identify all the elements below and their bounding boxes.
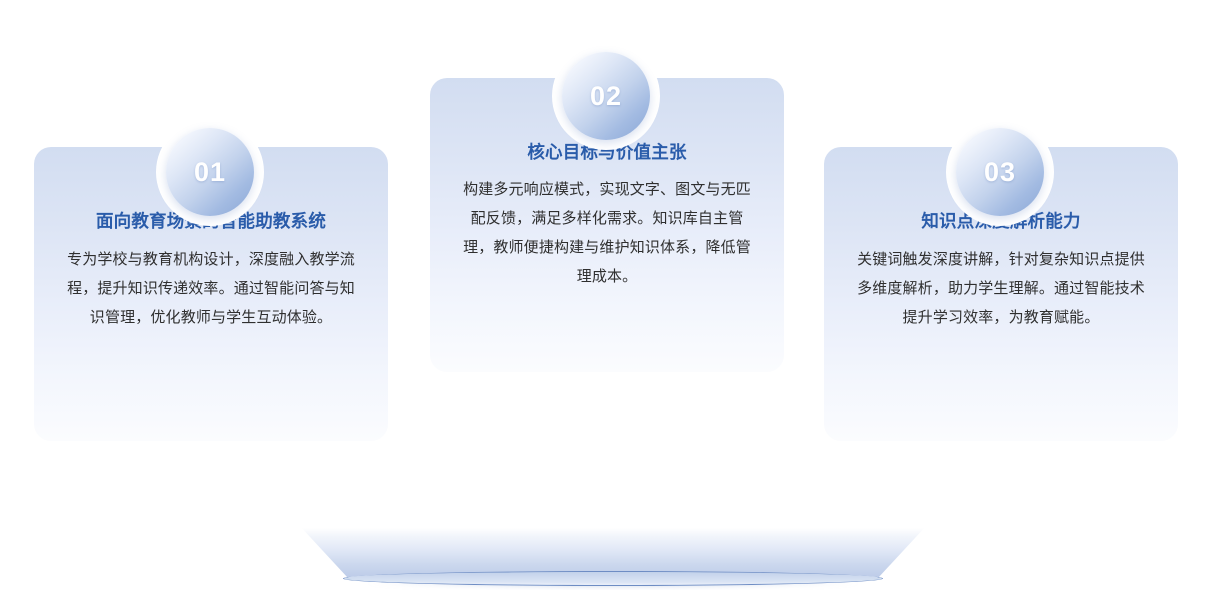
step-badge-1[interactable]: 01 (166, 128, 254, 216)
step-badge-3-number: 03 (984, 159, 1016, 186)
step-badge-3-ring: 03 (946, 118, 1054, 226)
step-badge-3[interactable]: 03 (956, 128, 1044, 216)
platform-rim-inner (348, 572, 878, 583)
platform-base-decoration (296, 528, 930, 586)
feature-card-3-body: 关键词触发深度讲解，针对复杂知识点提供多维度解析，助力学生理解。通过智能技术提升… (850, 246, 1152, 333)
feature-card-2-body: 构建多元响应模式，实现文字、图文与无匹配反馈，满足多样化需求。知识库自主管理，教… (456, 176, 758, 292)
step-badge-1-ring: 01 (156, 118, 264, 226)
step-badge-2[interactable]: 02 (562, 52, 650, 140)
infographic-canvas: 面向教育场景的智能助教系统 专为学校与教育机构设计，深度融入教学流程，提升知识传… (0, 0, 1220, 590)
feature-card-1-body: 专为学校与教育机构设计，深度融入教学流程，提升知识传递效率。通过智能问答与知识管… (60, 246, 362, 333)
step-badge-1-number: 01 (194, 159, 226, 186)
step-badge-2-ring: 02 (552, 42, 660, 150)
step-badge-2-number: 02 (590, 83, 622, 110)
